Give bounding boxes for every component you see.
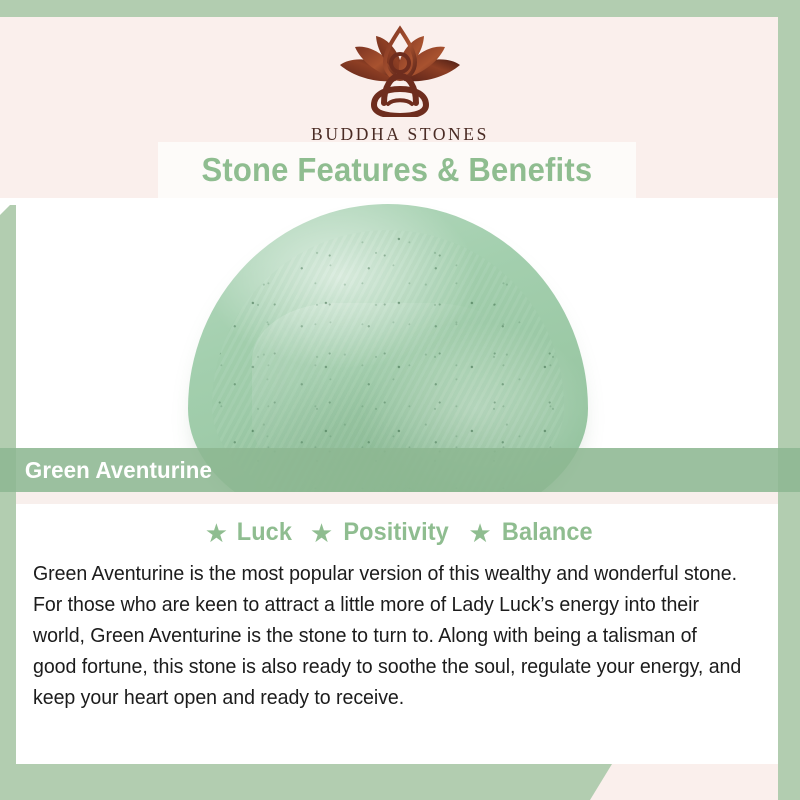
star-icon: ★	[310, 520, 333, 546]
benefit-label-luck: Luck	[237, 518, 292, 547]
brand-header: BUDDHA STONES	[0, 17, 800, 142]
title-banner: Stone Features & Benefits	[158, 142, 636, 198]
poster-canvas: BUDDHA STONES Stone Features & Benefits …	[0, 0, 800, 800]
decorative-band-top	[0, 0, 800, 17]
stone-name-label: Green Aventurine	[25, 457, 212, 484]
lotus-meditation-icon	[314, 25, 486, 117]
description-section: ★ Luck ★ Positivity ★ Balance Green Aven…	[0, 504, 800, 764]
divider-strip	[0, 492, 800, 504]
star-icon: ★	[468, 520, 491, 546]
decorative-band-left	[0, 205, 16, 780]
benefits-row: ★ Luck ★ Positivity ★ Balance	[0, 518, 800, 547]
benefit-label-positivity: Positivity	[344, 518, 449, 547]
star-icon: ★	[205, 520, 228, 546]
page-title: Stone Features & Benefits	[202, 151, 593, 189]
benefit-item-luck: ★ Luck	[205, 518, 294, 547]
benefit-item-balance: ★ Balance	[468, 518, 595, 547]
benefit-item-positivity: ★ Positivity	[310, 518, 452, 547]
stone-name-bar: Green Aventurine	[0, 448, 800, 492]
brand-logo: BUDDHA STONES	[0, 25, 800, 145]
benefit-label-balance: Balance	[502, 518, 593, 547]
decorative-band-right	[778, 0, 800, 800]
description-text: Green Aventurine is the most popular ver…	[33, 559, 741, 714]
decorative-band-bottom	[0, 764, 612, 800]
